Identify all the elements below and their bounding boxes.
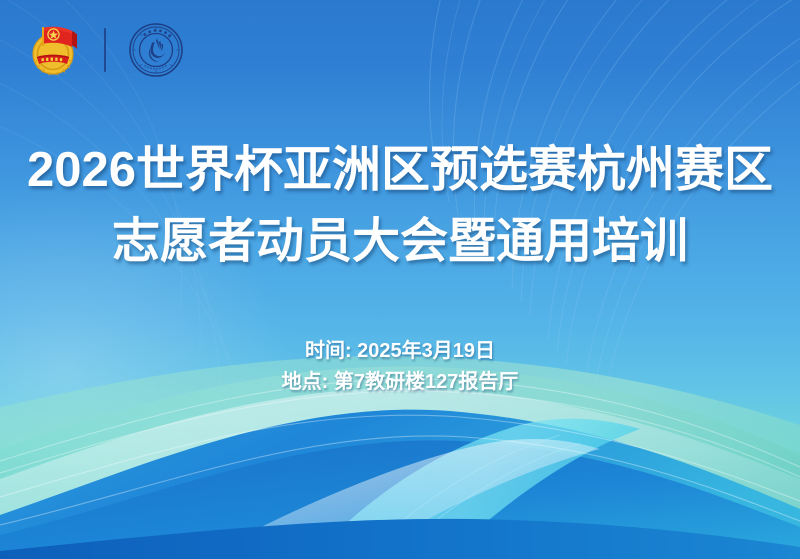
event-poster: 2026世界杯亚洲区预选赛杭州赛区 志愿者动员大会暨通用培训 时间: 2025年… — [0, 0, 800, 559]
communist-youth-league-emblem-icon — [26, 22, 82, 78]
title-line-2: 志愿者动员大会暨通用培训 — [0, 206, 800, 278]
radiating-arc-lines-left-icon — [0, 0, 320, 559]
center-glow — [200, 430, 660, 559]
university-seal-icon — [128, 22, 184, 78]
poster-details: 时间: 2025年3月19日 地点: 第7教研楼127报告厅 — [0, 336, 800, 398]
background-decoration — [0, 0, 800, 559]
poster-title: 2026世界杯亚洲区预选赛杭州赛区 志愿者动员大会暨通用培训 — [0, 134, 800, 278]
logo-divider — [104, 28, 106, 72]
event-location: 地点: 第7教研楼127报告厅 — [0, 367, 800, 398]
title-line-1: 2026世界杯亚洲区预选赛杭州赛区 — [0, 134, 800, 206]
header-logos — [26, 22, 184, 78]
event-time: 时间: 2025年3月19日 — [0, 336, 800, 367]
